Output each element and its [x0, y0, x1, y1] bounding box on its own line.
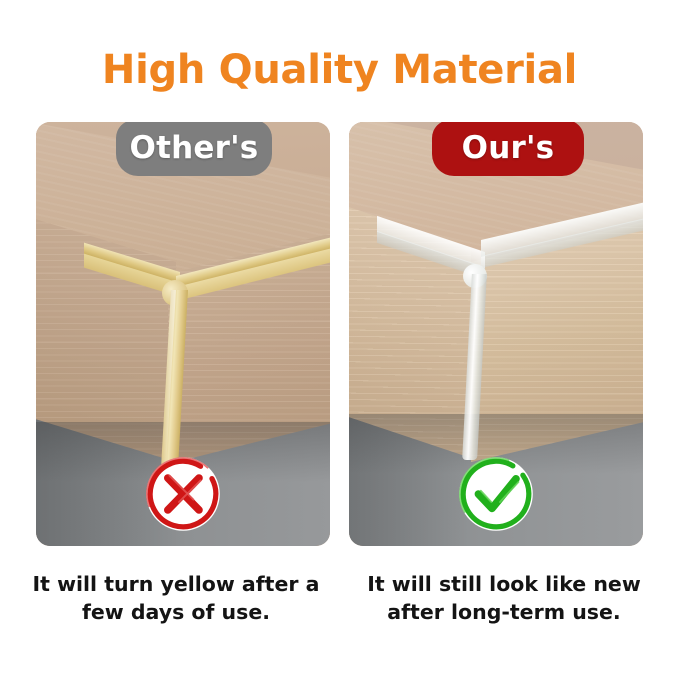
comparison-panel-ours: Our's [349, 122, 643, 546]
red-cross-icon [143, 454, 223, 534]
comparison-panel-other: Other's [36, 122, 330, 546]
comparison-row: Other's [36, 122, 643, 546]
caption-ours: It will still look like new after long-t… [344, 570, 664, 627]
caption-other: It will turn yellow after a few days of … [16, 570, 336, 627]
page-title: High Quality Material [0, 47, 679, 93]
green-check-icon [456, 454, 536, 534]
badge-other: Other's [116, 122, 272, 176]
badge-ours: Our's [432, 122, 584, 176]
